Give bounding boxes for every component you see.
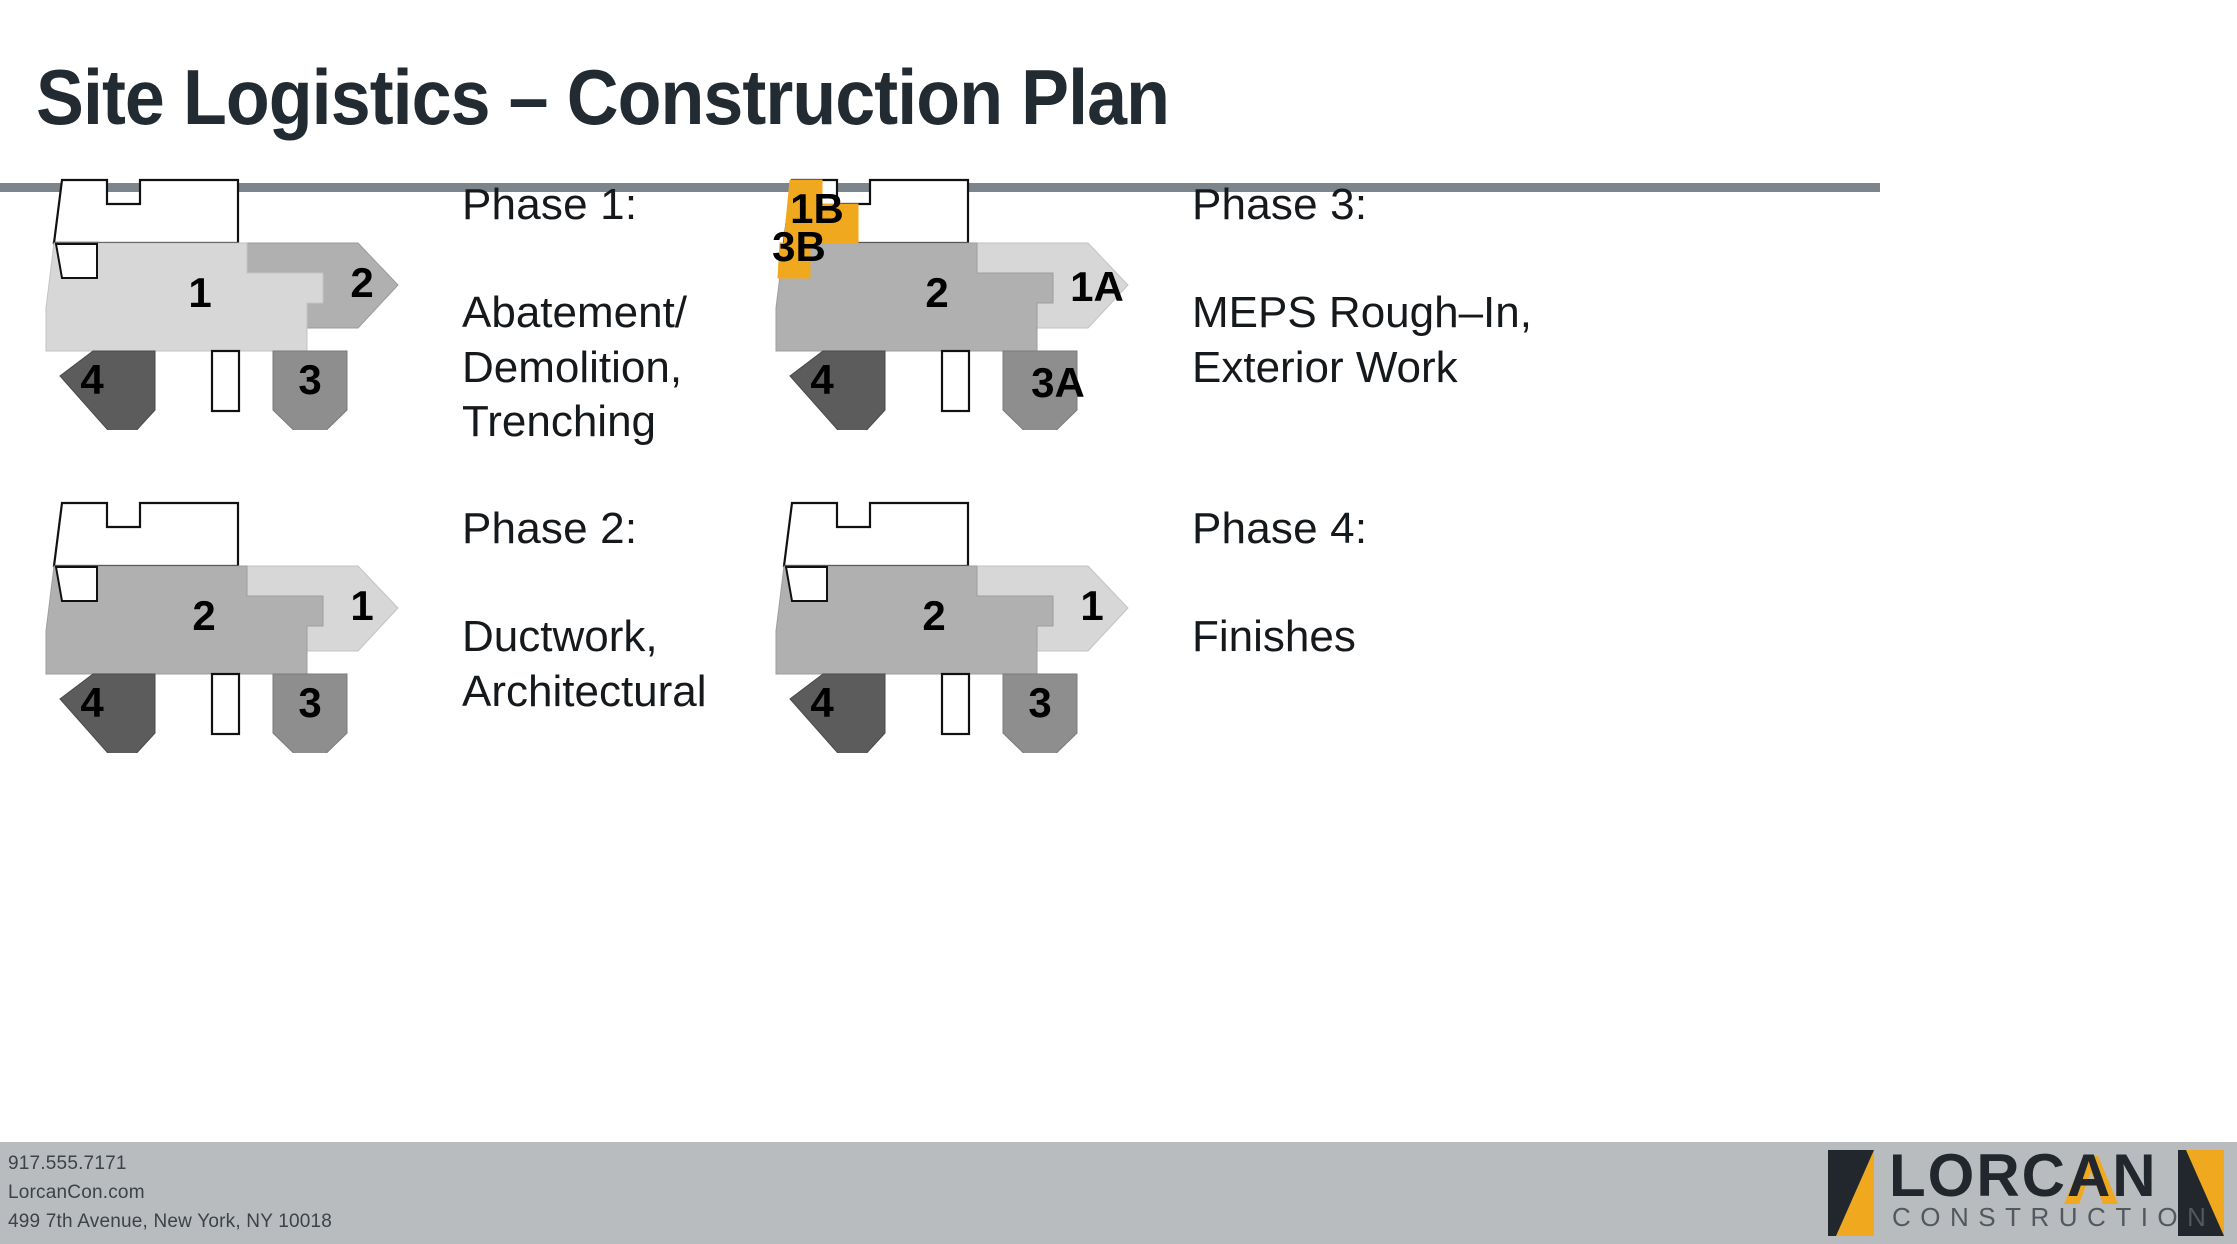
zone-label: 4 — [810, 679, 834, 726]
site-plan-diagram-phase-1: 4 3 1 2 — [40, 168, 440, 430]
zone-label: 2 — [192, 592, 215, 639]
zone-label: 3 — [298, 679, 321, 726]
zone-label: 2 — [922, 592, 945, 639]
floor-plan-svg: 4 3 1 2 — [40, 168, 440, 430]
footer-contact-info: 917.555.7171 LorcanCon.com 499 7th Avenu… — [8, 1150, 332, 1237]
plan-notch-overlay — [786, 567, 827, 601]
phase-description: Abatement/ Demolition, Trenching — [462, 286, 822, 450]
plan-stem-white — [942, 351, 969, 411]
plan-zone-4-shape — [60, 351, 155, 430]
plan-stem-white — [212, 674, 239, 734]
zone-label: 4 — [810, 356, 834, 403]
zone-label: 1 — [188, 269, 211, 316]
phase-text-block-1: Phase 1: Abatement/ Demolition, Trenchin… — [462, 180, 822, 450]
plan-outline-upper — [784, 503, 968, 566]
lorcan-construction-logo: LORCAN CONSTRUCTION — [1826, 1148, 2226, 1238]
footer-website[interactable]: LorcanCon.com — [8, 1179, 332, 1208]
floor-plan-svg: 4 3 2 1 — [40, 491, 440, 753]
footer-address: 499 7th Avenue, New York, NY 10018 — [8, 1208, 332, 1237]
logo-wordmark: LORCAN — [1889, 1146, 2158, 1206]
phase-text-block-4: Phase 4: Finishes — [1192, 504, 1572, 665]
zone-label: 4 — [80, 679, 104, 726]
zone-label: 1A — [1070, 263, 1124, 310]
plan-outline-upper — [54, 503, 238, 566]
zone-label: 1 — [1080, 582, 1103, 629]
phase-description: MEPS Rough–In, Exterior Work — [1192, 286, 1612, 395]
phase-heading: Phase 3: — [1192, 180, 1612, 230]
plan-zone-4-shape — [60, 674, 155, 753]
zone-label: 2 — [350, 259, 373, 306]
phase-heading: Phase 4: — [1192, 504, 1572, 554]
site-plan-diagram-phase-2: 4 3 2 1 — [40, 491, 440, 753]
zone-label: 3A — [1031, 359, 1085, 406]
plan-notch-overlay — [56, 244, 97, 278]
zone-label: 1 — [350, 582, 373, 629]
zone-label: 3 — [1028, 679, 1051, 726]
logo-subtitle: CONSTRUCTION — [1892, 1204, 2215, 1230]
phase-description: Finishes — [1192, 610, 1572, 665]
site-plan-diagram-phase-3: 4 3A 2 1A 1B 3B — [770, 168, 1170, 430]
phase-heading: Phase 1: — [462, 180, 822, 230]
floor-plan-svg: 4 3 2 1 — [770, 491, 1170, 753]
plan-stem-white — [212, 351, 239, 411]
zone-label: 4 — [80, 356, 104, 403]
site-plan-diagram-phase-4: 4 3 2 1 — [770, 491, 1170, 753]
floor-plan-svg: 4 3A 2 1A 1B 3B — [770, 168, 1170, 430]
plan-outline-upper — [54, 180, 238, 243]
footer-phone: 917.555.7171 — [8, 1150, 332, 1179]
plan-notch-overlay — [56, 567, 97, 601]
page-title: Site Logistics – Construction Plan — [36, 52, 1169, 143]
phase-text-block-3: Phase 3: MEPS Rough–In, Exterior Work — [1192, 180, 1612, 395]
plan-zone-4-shape — [790, 674, 885, 753]
plan-stem-white — [942, 674, 969, 734]
zone-label: 2 — [925, 269, 948, 316]
zone-label: 3 — [298, 356, 321, 403]
plan-zone-4-shape — [790, 351, 885, 430]
zone-label-orange: 3B — [772, 223, 826, 270]
